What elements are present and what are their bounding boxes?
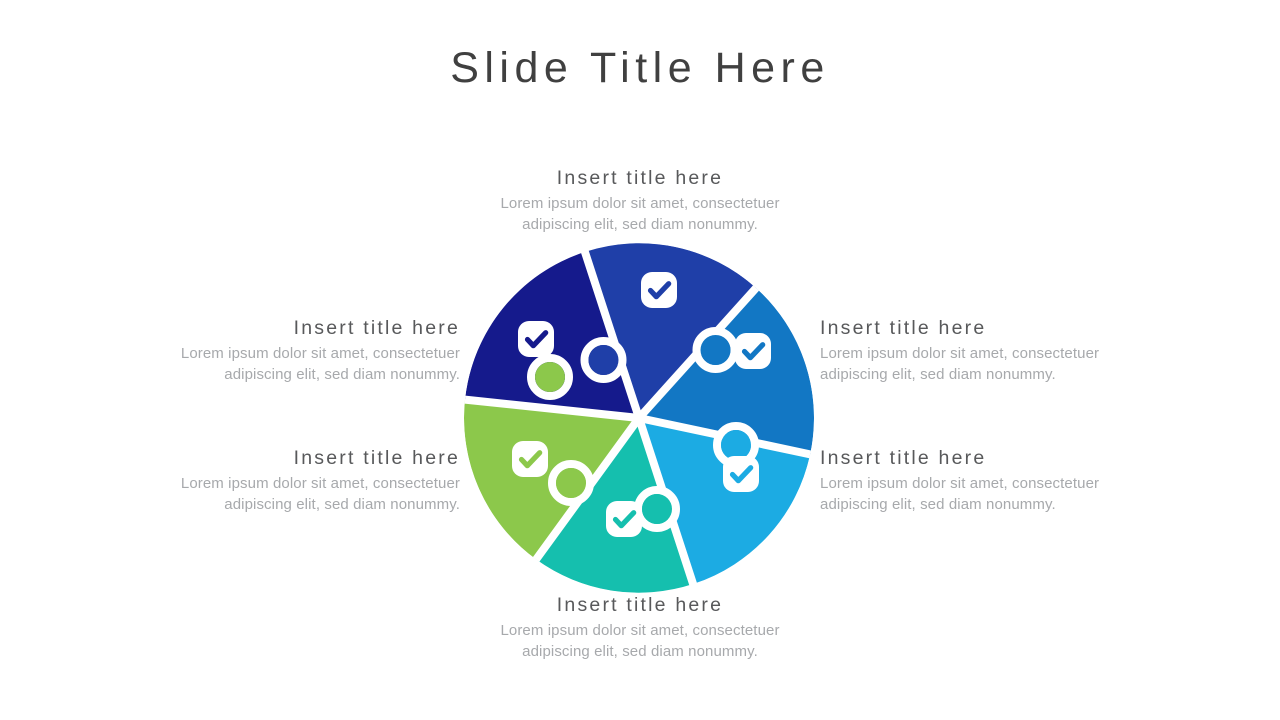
callout-title: Insert title here — [128, 446, 460, 470]
badge-blue[interactable] — [735, 333, 771, 369]
puzzle-circle-svg — [459, 238, 819, 598]
knob-fill-6 — [535, 362, 565, 392]
puzzle-circle-diagram — [459, 238, 819, 598]
callout-body: Lorem ipsum dolor sit amet, consectetuer… — [474, 194, 806, 235]
knob-fill-5 — [556, 468, 586, 498]
badge-royal[interactable] — [641, 272, 677, 308]
callout-left-upper[interactable]: Insert title here Lorem ipsum dolor sit … — [128, 316, 460, 386]
puzzle-segments — [464, 243, 814, 593]
callout-body: Lorem ipsum dolor sit amet, consectetuer… — [128, 474, 460, 515]
callout-body: Lorem ipsum dolor sit amet, consectetuer… — [820, 474, 1152, 515]
callout-left-lower[interactable]: Insert title here Lorem ipsum dolor sit … — [128, 446, 460, 516]
badge-green[interactable] — [512, 441, 548, 477]
badge-cyan[interactable] — [723, 456, 759, 492]
knob-fill-1 — [589, 345, 619, 375]
badge-navy[interactable] — [518, 321, 554, 357]
knob-fill-3 — [721, 430, 751, 460]
callout-body: Lorem ipsum dolor sit amet, consectetuer… — [820, 344, 1152, 385]
knob-fill-4 — [642, 494, 672, 524]
callout-right-lower[interactable]: Insert title here Lorem ipsum dolor sit … — [820, 446, 1152, 516]
callout-bottom[interactable]: Insert title here Lorem ipsum dolor sit … — [474, 593, 806, 663]
callout-right-upper[interactable]: Insert title here Lorem ipsum dolor sit … — [820, 316, 1152, 386]
callout-title: Insert title here — [128, 316, 460, 340]
callout-title: Insert title here — [820, 316, 1152, 340]
callout-top[interactable]: Insert title here Lorem ipsum dolor sit … — [474, 166, 806, 236]
page-title: Slide Title Here — [0, 44, 1280, 93]
knob-fill-2 — [701, 335, 731, 365]
callout-title: Insert title here — [474, 166, 806, 190]
badge-teal[interactable] — [606, 501, 642, 537]
callout-body: Lorem ipsum dolor sit amet, consectetuer… — [474, 621, 806, 662]
callout-body: Lorem ipsum dolor sit amet, consectetuer… — [128, 344, 460, 385]
callout-title: Insert title here — [820, 446, 1152, 470]
